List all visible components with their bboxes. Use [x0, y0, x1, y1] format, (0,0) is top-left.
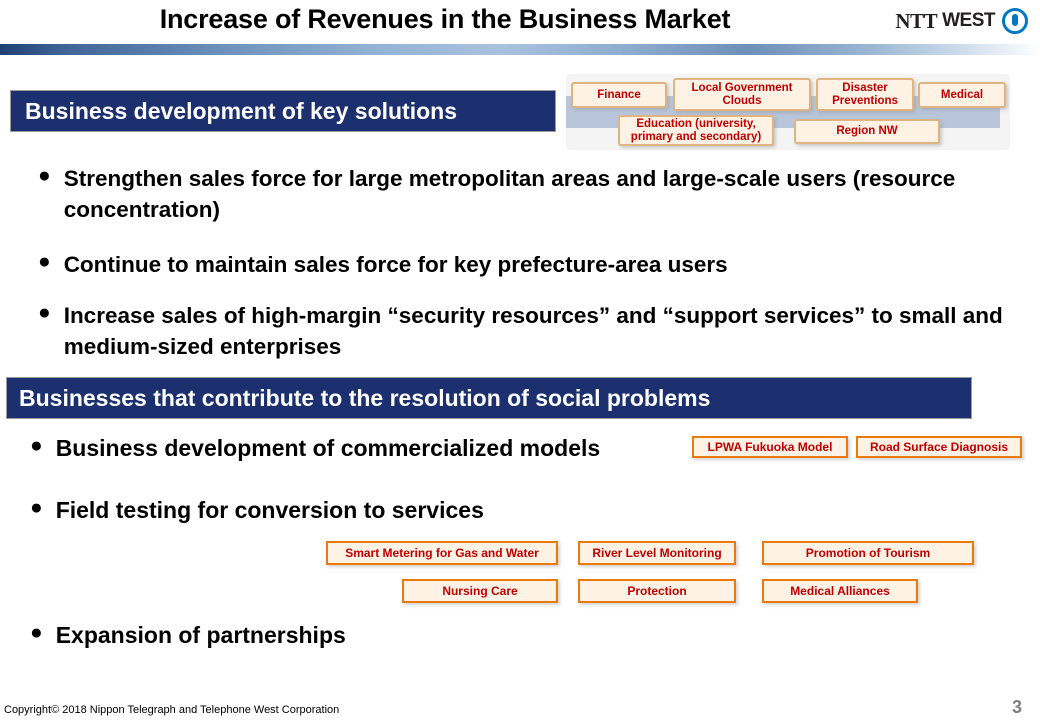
- field-test-tag-medical-alliances[interactable]: Medical Alliances: [762, 579, 918, 603]
- solution-tag-medical-label: Medical: [941, 89, 983, 102]
- solution-tag-finance-label: Finance: [597, 89, 640, 102]
- bullet-dot-icon: ●: [38, 302, 51, 323]
- bullet-dot-icon: ●: [30, 622, 43, 643]
- bullet-item: ● Increase sales of high-margin “securit…: [38, 300, 1028, 362]
- solution-tag-region-nw-label: Region NW: [836, 125, 897, 138]
- ntt-circle-mark-icon: [1002, 8, 1028, 34]
- solution-tag-disaster-preventions[interactable]: Disaster Preventions: [816, 78, 914, 111]
- section-banner-social-problems-label: Businesses that contribute to the resolu…: [19, 385, 710, 412]
- bullet-item: ● Business development of commercialized…: [30, 433, 730, 465]
- field-test-tag-river-level-monitoring[interactable]: River Level Monitoring: [578, 541, 736, 565]
- model-tag-road-surface-diagnosis-label: Road Surface Diagnosis: [870, 440, 1008, 454]
- model-tag-road-surface-diagnosis[interactable]: Road Surface Diagnosis: [856, 436, 1022, 458]
- footer-copyright: Copyright© 2018 Nippon Telegraph and Tel…: [4, 704, 339, 716]
- field-test-tag-promotion-of-tourism-label: Promotion of Tourism: [806, 546, 930, 560]
- bullet-item-label: Expansion of partnerships: [56, 620, 346, 652]
- solution-tag-finance[interactable]: Finance: [571, 82, 667, 108]
- bullet-dot-icon: ●: [30, 497, 43, 518]
- page-title-text: Increase of Revenues in the Business Mar…: [160, 4, 881, 35]
- bullet-dot-icon: ●: [38, 251, 51, 272]
- solution-tag-medical[interactable]: Medical: [918, 82, 1006, 108]
- logo-ntt-text: NTT: [895, 9, 937, 34]
- bullet-item-label: Strengthen sales force for large metropo…: [64, 163, 1018, 225]
- solution-tag-education[interactable]: Education (university, primary and secon…: [618, 115, 774, 146]
- field-test-tag-nursing-care[interactable]: Nursing Care: [402, 579, 558, 603]
- ntt-west-logo: NTT WEST: [895, 8, 1028, 34]
- bullet-item: ● Expansion of partnerships: [30, 620, 730, 652]
- solution-tag-local-government-clouds-label: Local Government Clouds: [675, 82, 809, 108]
- solution-tag-local-government-clouds[interactable]: Local Government Clouds: [673, 78, 811, 111]
- solution-tags-panel: Finance Local Government Clouds Disaster…: [566, 74, 1010, 150]
- bullet-item-label: Field testing for conversion to services: [56, 495, 484, 527]
- bullet-item-label: Business development of commercialized m…: [56, 433, 601, 465]
- section-banner-social-problems: Businesses that contribute to the resolu…: [6, 377, 972, 419]
- model-tag-lpwa-fukuoka-model-label: LPWA Fukuoka Model: [708, 440, 833, 454]
- logo-west-text: WEST: [942, 10, 995, 32]
- model-tag-lpwa-fukuoka-model[interactable]: LPWA Fukuoka Model: [692, 436, 848, 458]
- field-test-tag-promotion-of-tourism[interactable]: Promotion of Tourism: [762, 541, 974, 565]
- page-title: Increase of Revenues in the Business Mar…: [0, 4, 1040, 35]
- field-test-tag-nursing-care-label: Nursing Care: [442, 584, 517, 598]
- field-test-tag-medical-alliances-label: Medical Alliances: [790, 584, 890, 598]
- field-test-tag-smart-metering-label: Smart Metering for Gas and Water: [345, 546, 539, 560]
- bullet-item-label: Continue to maintain sales force for key…: [64, 249, 728, 280]
- bullet-dot-icon: ●: [38, 165, 51, 186]
- solution-tag-region-nw[interactable]: Region NW: [794, 119, 940, 144]
- section-banner-key-solutions-label: Business development of key solutions: [25, 98, 457, 125]
- section-banner-key-solutions: Business development of key solutions: [10, 90, 556, 132]
- solution-tag-education-label: Education (university, primary and secon…: [620, 118, 772, 144]
- bullet-item-label: Increase sales of high-margin “security …: [64, 300, 1028, 362]
- field-test-tag-smart-metering[interactable]: Smart Metering for Gas and Water: [326, 541, 558, 565]
- bullet-item: ● Continue to maintain sales force for k…: [38, 249, 1018, 280]
- field-test-tag-river-level-monitoring-label: River Level Monitoring: [592, 546, 721, 560]
- solution-tag-disaster-preventions-label: Disaster Preventions: [818, 82, 912, 108]
- field-test-tag-protection[interactable]: Protection: [578, 579, 736, 603]
- bullet-item: ● Strengthen sales force for large metro…: [38, 163, 1018, 225]
- bullet-item: ● Field testing for conversion to servic…: [30, 495, 730, 527]
- field-test-tag-protection-label: Protection: [627, 584, 686, 598]
- bullet-dot-icon: ●: [30, 435, 43, 456]
- page-number: 3: [1012, 697, 1022, 718]
- header-divider: [0, 44, 1040, 55]
